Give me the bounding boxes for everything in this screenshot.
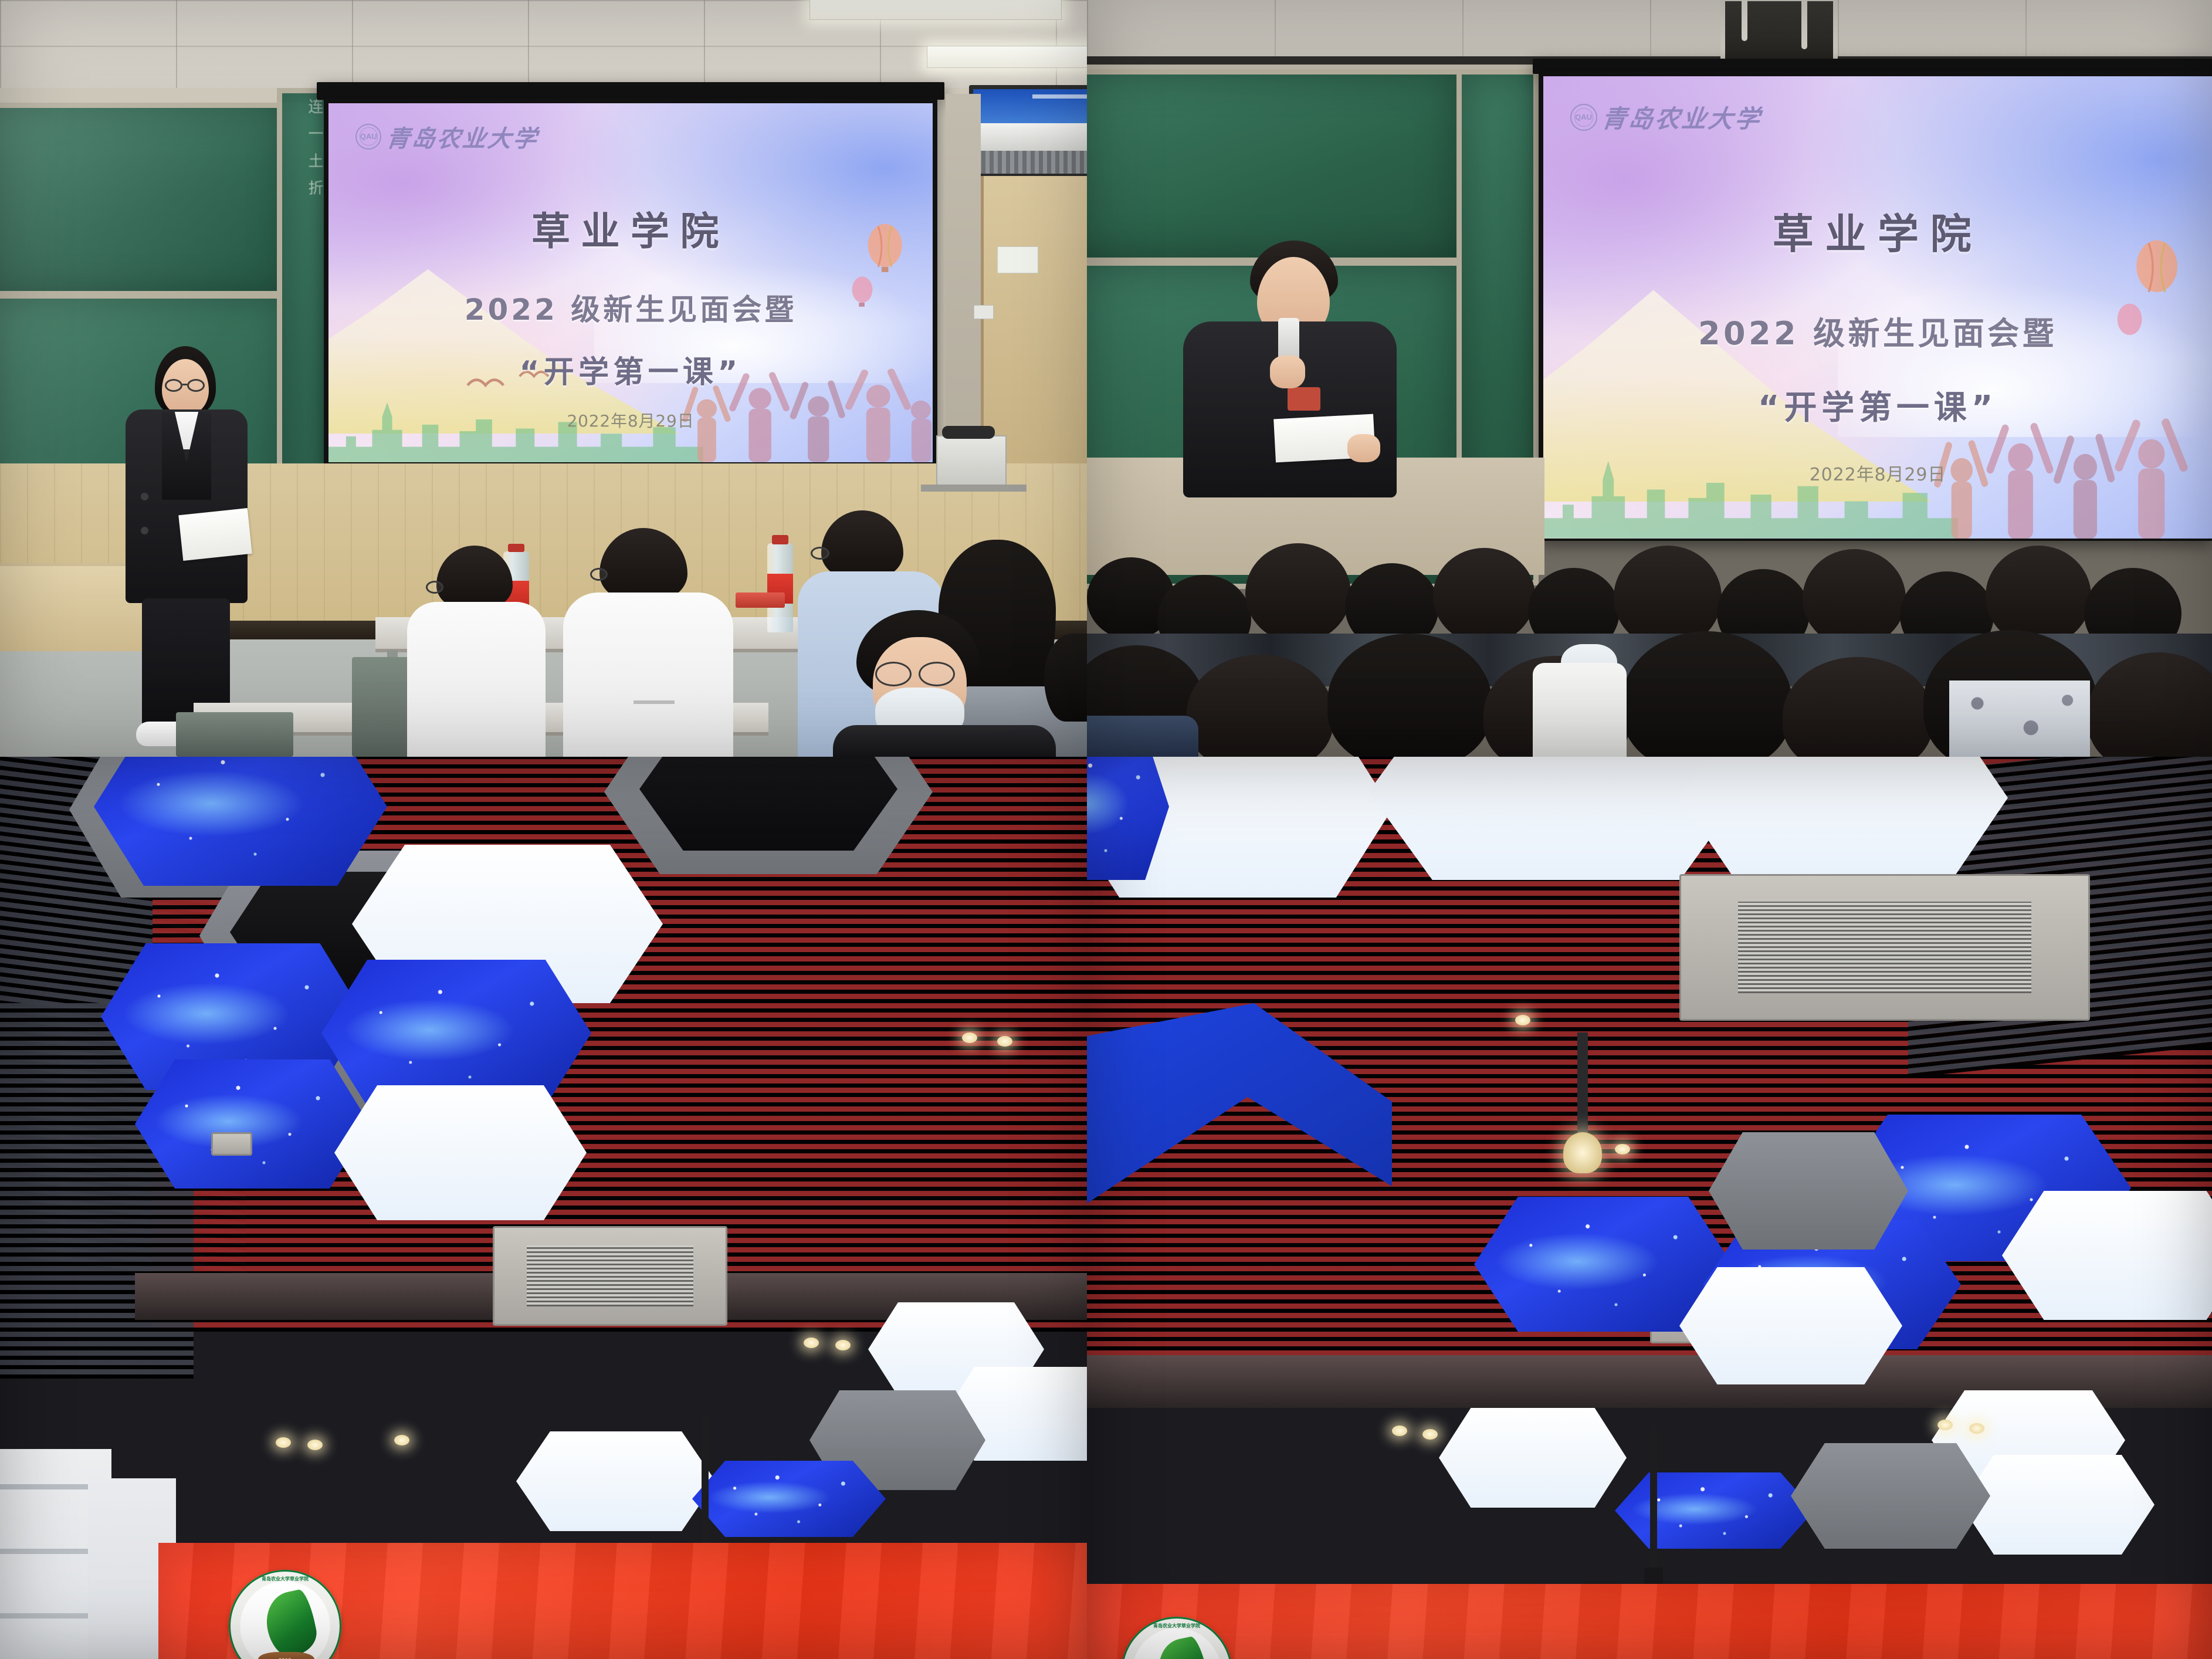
audience-shirt-white (1533, 663, 1627, 757)
glasses (875, 662, 912, 686)
ceiling-spotlight (1422, 1429, 1438, 1440)
banner-college-title: 草业学院 (546, 1654, 948, 1659)
slide-date: 2022年8月29日 (328, 408, 933, 432)
speaker-glasses-right (187, 379, 205, 392)
speaker-glasses-left (165, 379, 182, 392)
tv-video-building (978, 123, 1087, 152)
seated-person-1 (405, 546, 557, 757)
slide-university-line: QAU 青岛农业大学 (355, 120, 538, 154)
hex-galaxy-panel (135, 1059, 370, 1189)
ceiling-ac-unit (493, 1226, 727, 1326)
wall-tv (969, 85, 1087, 178)
hex-galaxy-panel (1615, 1472, 1814, 1549)
university-name: 青岛农业大学 (1600, 99, 1764, 135)
bottle-cap (772, 535, 788, 544)
shirt (833, 725, 1056, 757)
hanging-microphone (702, 1414, 709, 1549)
ceiling-ac-unit (211, 1132, 252, 1156)
college-logo: 青岛农业大学草业学院 2019 College of Grassland Sci… (1121, 1617, 1232, 1659)
water-bottle (767, 543, 793, 632)
seated-person-6 (1044, 634, 1087, 757)
event-banner: 青岛农业大学草业学院 2019 College of Grassland Sci… (158, 1543, 1087, 1659)
ceiling-ac-unit (1679, 874, 2090, 1021)
logo-chinese-ring-text: 青岛农业大学草业学院 (229, 1576, 341, 1582)
ceiling-light (809, 0, 1062, 20)
university-name: 青岛农业大学 (385, 120, 540, 154)
hex-light-panel (1679, 757, 2008, 880)
glasses (811, 547, 829, 560)
ceiling-spotlight (307, 1440, 323, 1450)
audience-head (1433, 548, 1535, 644)
seated-person-2 (563, 528, 739, 757)
hex-recess (639, 757, 897, 851)
logo-grass-leaf-icon (1153, 1635, 1211, 1659)
ceiling-spotlight (1392, 1426, 1407, 1436)
ceiling-spotlight (1969, 1423, 1984, 1434)
glasses (590, 568, 608, 581)
hex-light-panel (2002, 1191, 2212, 1320)
slide-event-line: 2022 级新生见面会暨 (1543, 307, 2212, 354)
hand-holding-mic (1270, 355, 1305, 388)
audience-head (1803, 549, 1906, 648)
slide-lesson-line: “开学第一课” (328, 347, 933, 391)
chair-back (176, 712, 293, 757)
university-emblem-icon: QAU (355, 124, 381, 150)
hex-frame (1709, 1132, 1908, 1250)
hair (436, 546, 513, 610)
wall-notice (997, 246, 1038, 273)
slide-event-line: 2022 级新生见面会暨 (328, 286, 933, 329)
right-wall-panel (946, 94, 981, 469)
hex-galaxy-panel (692, 1461, 886, 1537)
glasses (426, 581, 443, 594)
projector-cable (1742, 0, 1747, 41)
ceiling-light (927, 46, 1087, 68)
tv-video-ground (973, 151, 1087, 174)
logo-chinese-ring-text: 青岛农业大学草业学院 (1121, 1623, 1232, 1629)
hand-holding-paper (1347, 434, 1380, 462)
speaker-glasses-bridge (182, 384, 187, 385)
hair (599, 528, 687, 602)
speaker-button (141, 527, 148, 534)
ceiling-spotlight (997, 1036, 1012, 1047)
chalkboard-left (1087, 69, 1462, 263)
ceiling-spotlight (804, 1338, 819, 1348)
photo-collage: 连 一 土 折 (0, 0, 2212, 1659)
pendant-lamp-shade (1563, 1132, 1602, 1173)
shelf (921, 485, 1027, 492)
projected-slide: QAU 青岛农业大学 草业学院 2022 级新生见面会暨 “开学第一课” 202… (1543, 76, 2212, 539)
audience-shirt-blue (1087, 716, 1198, 757)
door (981, 176, 1087, 469)
hex-light-panel (1368, 757, 1744, 880)
ac-grill (1738, 902, 2031, 993)
hex-light-panel (1439, 1408, 1627, 1508)
ceiling-spotlight (962, 1032, 977, 1043)
speaker-button (141, 493, 148, 500)
slide-college-title: 草业学院 (328, 200, 933, 256)
panel-top-right: QAU 青岛农业大学 草业学院 2022 级新生见面会暨 “开学第一课” 202… (1087, 0, 2212, 757)
equipment-box (936, 435, 1007, 486)
ceiling-tile-grid (1087, 0, 2212, 59)
tshirt-graphic-patch (1288, 387, 1320, 411)
projected-slide: QAU 青岛农业大学 草业学院 2022 级新生见面会暨 “开学第一课” 202… (328, 103, 933, 462)
speaker-script-paper (178, 508, 252, 561)
tv-osd-timestamp (1032, 94, 1087, 99)
shirt (407, 602, 546, 757)
slide-date: 2022年8月29日 (1543, 460, 2212, 486)
cable-coil (942, 426, 995, 439)
slide-university-line: QAU 青岛农业大学 (1570, 99, 1762, 135)
hex-light-panel (1679, 1267, 1902, 1384)
ceiling-spotlight (835, 1340, 851, 1350)
ceiling-spotlight (1937, 1420, 1953, 1430)
hair (1044, 634, 1087, 722)
ac-grill (527, 1245, 693, 1307)
ceiling-spotlight (394, 1435, 409, 1445)
audience-head (1245, 543, 1351, 643)
banner-fabric-folds (1087, 1584, 2212, 1659)
speaker-woman (106, 346, 282, 757)
ceiling-spotlight (276, 1437, 291, 1448)
audience (1087, 487, 2212, 757)
shirt-print (634, 663, 675, 704)
seated-person-5-masked (809, 610, 1056, 757)
ceiling-spotlight (1515, 1015, 1530, 1025)
hex-frame (1791, 1443, 1990, 1549)
logo-grass-leaf-icon (261, 1588, 320, 1659)
hex-light-panel (1961, 1455, 2155, 1555)
hex-light-panel (516, 1431, 716, 1531)
hex-light-panel (334, 1085, 587, 1220)
panel-bottom-left: 青岛农业大学草业学院 2019 College of Grassland Sci… (0, 757, 1087, 1659)
hanging-microphone (1650, 1426, 1657, 1572)
slide-lesson-line: “开学第一课” (1543, 381, 2212, 429)
event-banner: 青岛农业大学草业学院 2019 College of Grassland Sci… (1087, 1584, 2212, 1659)
audience-shirt-patterned (1949, 680, 2090, 757)
notebook (736, 592, 785, 608)
slide-college-title: 草业学院 (1543, 201, 2212, 260)
ceiling-spotlight (1615, 1144, 1630, 1154)
hair (821, 510, 903, 580)
university-emblem-icon: QAU (1570, 104, 1597, 131)
panel-bottom-right: 青岛农业大学草业学院 2019 College of Grassland Sci… (1087, 757, 2212, 1659)
chalkboard-writing: 连 一 土 折 (303, 99, 326, 292)
projector-screen-housing (317, 82, 944, 100)
hex-galaxy-panel (321, 960, 591, 1106)
glasses (919, 662, 955, 686)
hex-galaxy-panel (94, 757, 387, 886)
panel-top-left: 连 一 土 折 (0, 0, 1087, 757)
projector-cable (1801, 0, 1807, 49)
wall-switch (974, 305, 994, 319)
